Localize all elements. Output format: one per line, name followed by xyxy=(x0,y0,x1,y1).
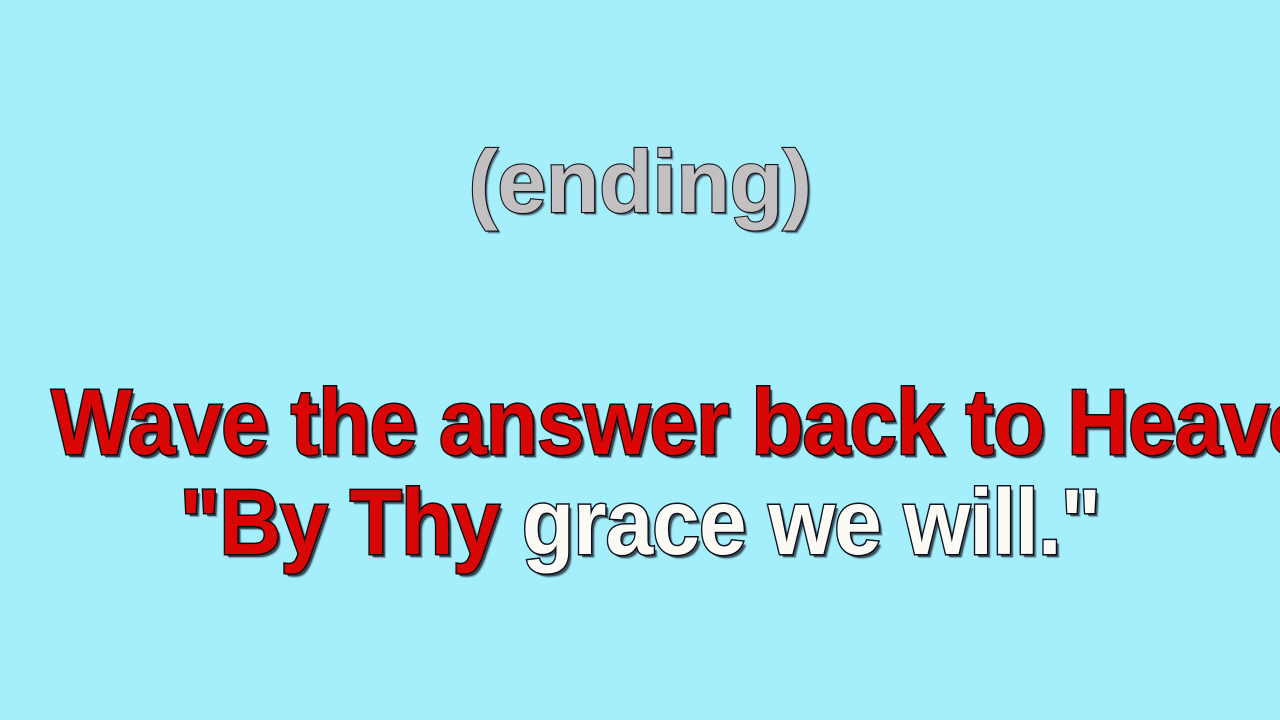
lyric-line-2: "By Thy grace we will." xyxy=(51,472,1229,572)
lyric-line-2-segment-sung: "By Thy xyxy=(180,470,499,574)
lyric-line-2-segment-unsung: grace we will." xyxy=(499,470,1100,574)
lyric-line-1: Wave the answer back to Heaven, xyxy=(51,372,1229,472)
karaoke-screen: (ending) Wave the answer back to Heaven,… xyxy=(0,0,1280,720)
lyric-line-1-segment-sung: Wave the answer back to Heaven, xyxy=(51,370,1280,474)
section-marker-label: (ending) xyxy=(0,138,1280,226)
lyric-text-block: Wave the answer back to Heaven, "By Thy … xyxy=(0,372,1280,572)
